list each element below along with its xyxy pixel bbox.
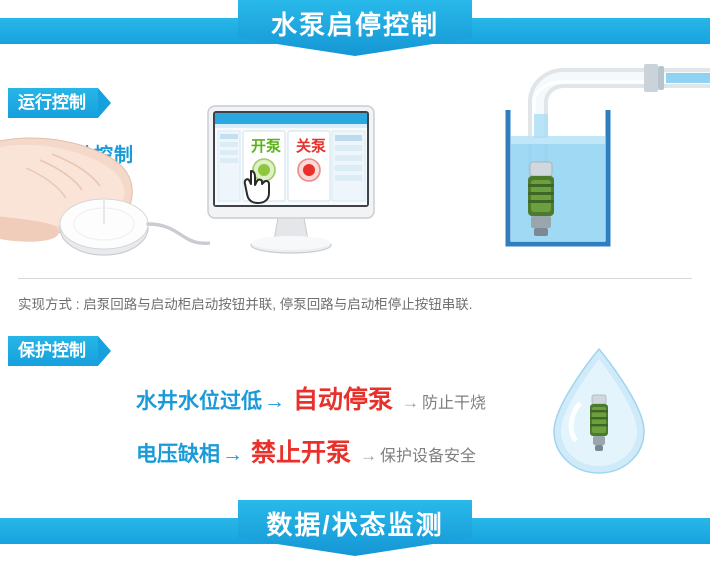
tag-run-control: 运行控制 xyxy=(8,88,98,118)
protection-row-2-condition: 电压缺相 xyxy=(136,443,220,466)
water-well-icon xyxy=(508,110,608,244)
water-droplet-icon xyxy=(540,345,658,480)
screen-start-button[interactable]: 开泵 xyxy=(244,135,288,156)
tag-protect-control: 保护控制 xyxy=(8,336,98,366)
protection-row-1-condition: 水井水位过低 xyxy=(136,390,262,413)
hand-icon xyxy=(0,120,210,265)
protection-row-2-arrow2: → xyxy=(357,446,380,465)
infographic-root: 水泵启停控制 运行控制 远程手动控制 xyxy=(0,0,710,564)
bottom-banner-title: 数据/状态监测 xyxy=(238,508,472,542)
protection-row-1-result: 防止干烧 xyxy=(422,395,486,412)
computer-mouse-icon xyxy=(60,199,210,255)
water-droplet-illustration xyxy=(540,345,658,480)
protection-row-2-result: 保护设备安全 xyxy=(380,448,476,465)
screen-stop-button[interactable]: 关泵 xyxy=(289,135,333,156)
pointer-cursor-icon xyxy=(241,167,275,205)
submersible-pump-icon xyxy=(528,162,554,236)
protection-row-2: 电压缺相→禁止开泵→保护设备安全 xyxy=(136,433,476,469)
bottom-banner: 数据/状态监测 xyxy=(0,500,710,562)
protection-row-2-action: 禁止开泵 xyxy=(245,439,357,467)
protection-row-2-arrow: → xyxy=(220,443,245,466)
protection-row-1: 水井水位过低→自动停泵→防止干烧 xyxy=(136,380,486,416)
pump-well-illustration xyxy=(498,58,710,253)
protection-row-1-action: 自动停泵 xyxy=(287,386,399,414)
tag-run-control-label: 运行控制 xyxy=(18,93,86,112)
note-divider xyxy=(18,278,692,279)
tag-protect-control-label: 保护控制 xyxy=(18,341,86,360)
implementation-note: 实现方式 : 启泵回路与启动柜启动按钮并联, 停泵回路与启动柜停止按钮串联. xyxy=(18,285,692,313)
hand-mouse-illustration xyxy=(0,120,210,265)
top-banner-title: 水泵启停控制 xyxy=(238,8,472,42)
protection-row-1-arrow2: → xyxy=(399,393,422,412)
top-banner: 水泵启停控制 xyxy=(0,0,710,62)
desktop-monitor-icon: 开泵 关泵 xyxy=(206,104,376,264)
protection-row-1-arrow: → xyxy=(262,390,287,413)
